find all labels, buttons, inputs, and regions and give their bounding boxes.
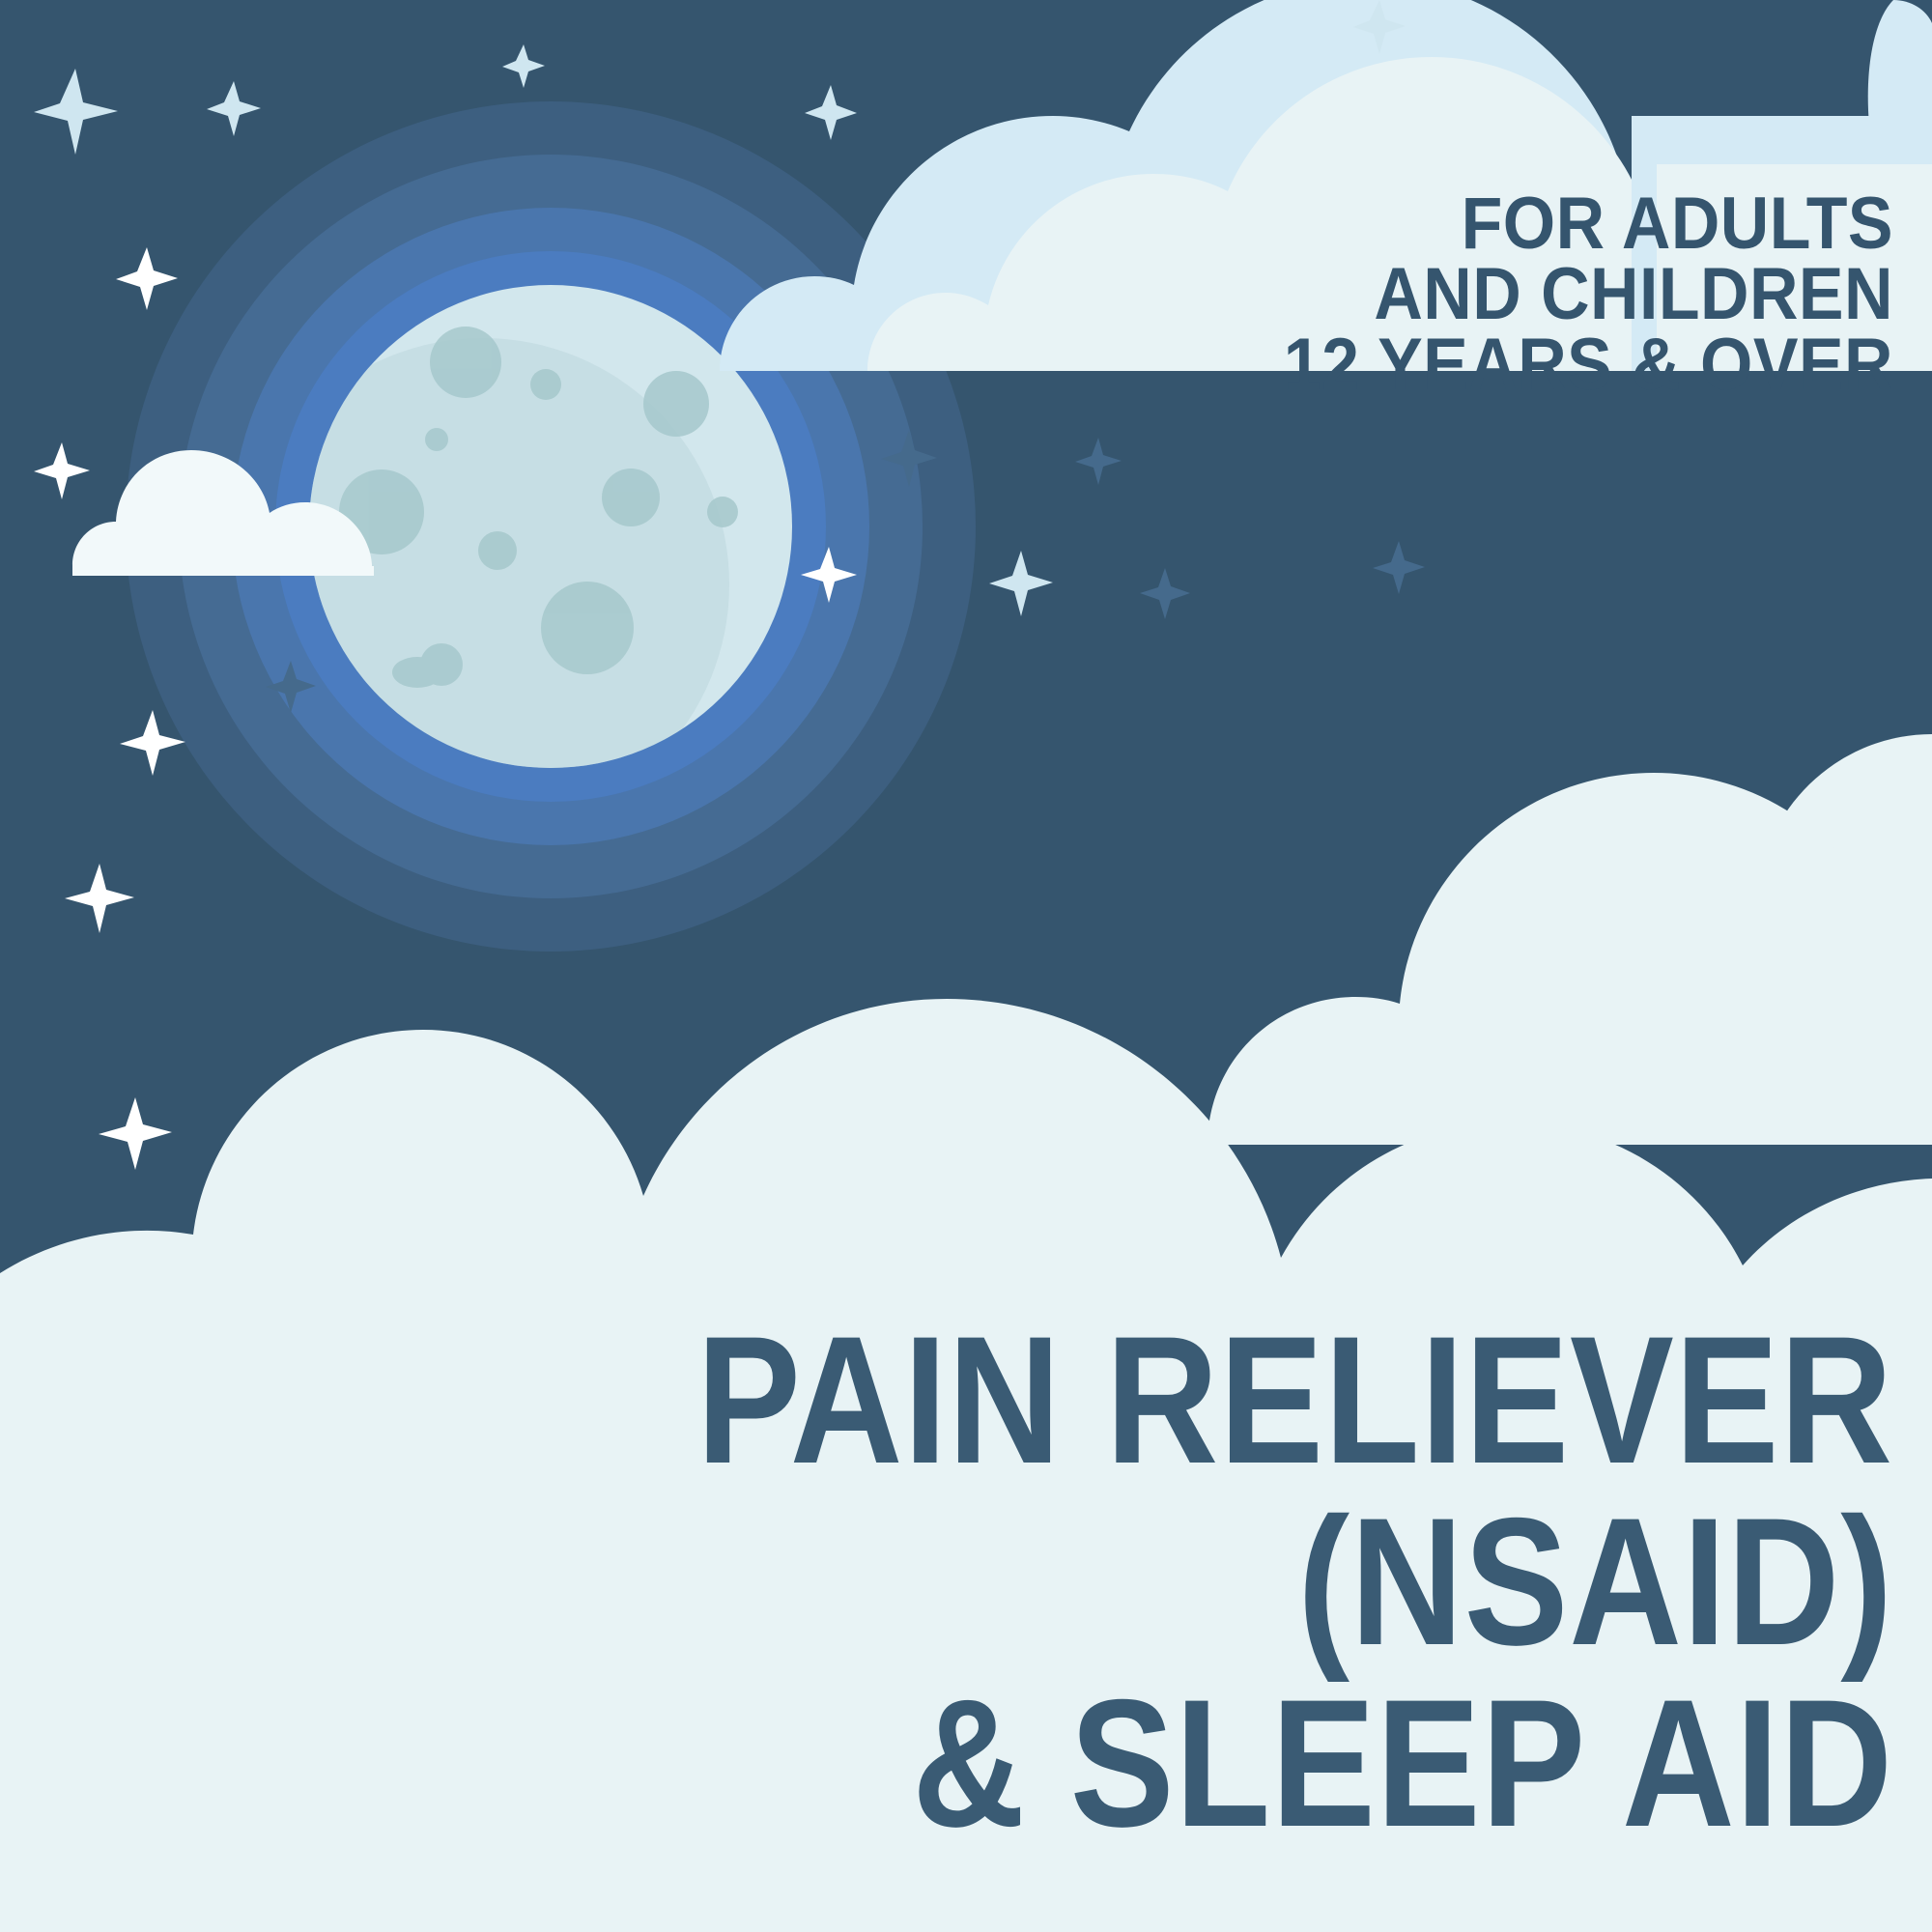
poster-canvas: FOR ADULTS AND CHILDREN 12 YEARS & OVER … xyxy=(0,0,1932,1932)
night-sky-illustration xyxy=(0,0,1932,1932)
